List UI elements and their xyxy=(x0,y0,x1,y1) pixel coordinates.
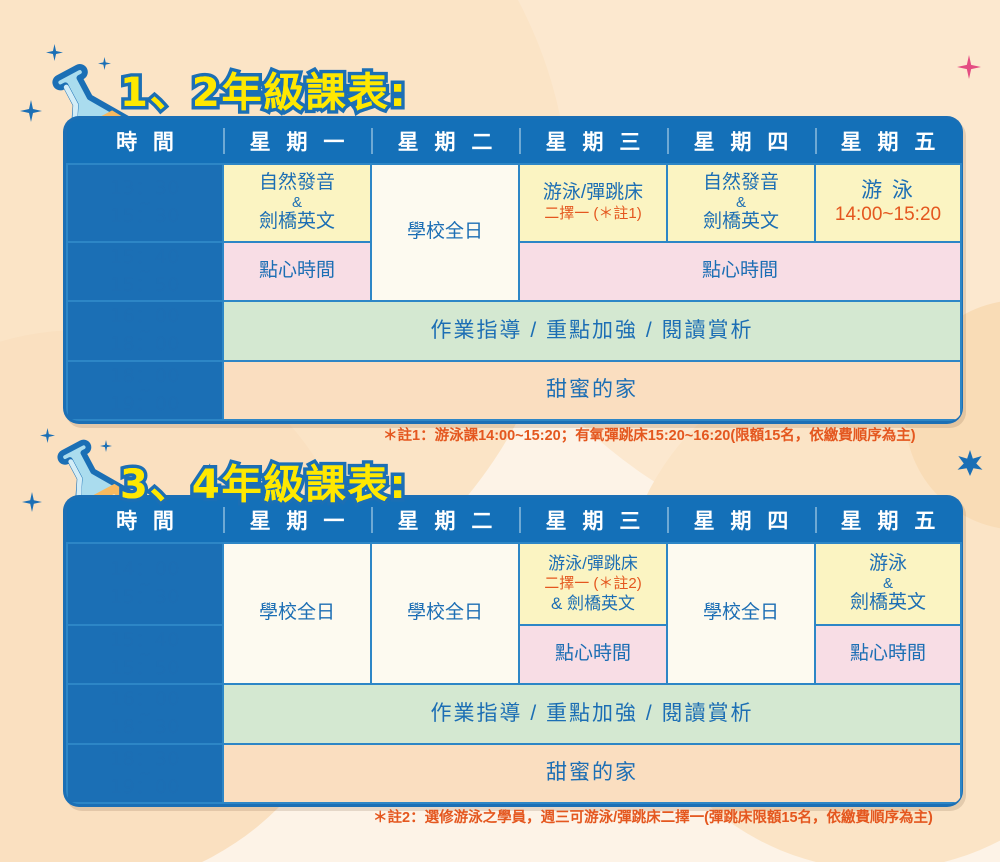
time-cell: 18：30 ~ 19：00 xyxy=(67,744,223,803)
table-row: 18：00 ~ 19：00 甜蜜的家 xyxy=(67,361,961,420)
cell-line: 學校全日 xyxy=(703,602,779,623)
cell-homework-guidance: 作業指導 / 重點加強 / 閱讀賞析 xyxy=(223,684,961,743)
star-icon xyxy=(957,450,983,476)
cell-home-sweet-home: 甜蜜的家 xyxy=(223,744,961,803)
sparkle-icon xyxy=(46,44,63,61)
cell-line: 學校全日 xyxy=(407,221,483,242)
schedule-table-grade-3-4: 時 間 星 期 一 星 期 二 星 期 三 星 期 四 星 期 五 14：00 … xyxy=(63,495,963,807)
section-title-grade-3-4: 3、4年級課表: xyxy=(120,452,408,510)
time-end: 19：00 xyxy=(70,777,220,798)
cell-wed-snack: 點心時間 xyxy=(519,625,667,684)
cell-line: 甜蜜的家 xyxy=(546,761,638,784)
cell-line: 自然發音 xyxy=(703,172,779,193)
time-end: 15：30 xyxy=(70,587,220,608)
table-row: 18：30 ~ 19：00 甜蜜的家 xyxy=(67,744,961,803)
column-header-friday: 星 期 五 xyxy=(815,119,961,164)
section-title-grade-1-2: 1、2年級課表: xyxy=(120,60,408,118)
cell-line: 劍橋英文 xyxy=(259,211,335,232)
column-header-monday: 星 期 一 xyxy=(223,119,371,164)
cell-mon-school-all-day: 學校全日 xyxy=(223,543,371,684)
cell-line: 點心時間 xyxy=(850,643,926,664)
cell-note-line: 二擇一 (＊註1) xyxy=(522,205,664,224)
cell-time-range: 14:00~15:20 xyxy=(818,204,958,226)
cell-line: 作業指導 / 重點加強 / 閱讀賞析 xyxy=(430,702,753,725)
cell-line: 游 泳 xyxy=(861,179,915,202)
cell-line: & 劍橋英文 xyxy=(522,593,664,615)
time-cell: 15：40 ~ 15：50 xyxy=(67,625,223,684)
cell-line: 游泳/彈跳床 xyxy=(543,182,643,203)
sparkle-icon xyxy=(957,55,981,79)
cell-wed-fri-snack: 點心時間 xyxy=(519,242,961,301)
time-cell: 16：00 ~ 18：30 xyxy=(67,684,223,743)
cell-mon-snack: 點心時間 xyxy=(223,242,371,301)
time-end: 15：50 xyxy=(70,658,220,679)
time-cell: 16：00 ~ 18：00 xyxy=(67,301,223,360)
footnote-1: ＊註1：游泳課14:00~15:20；有氧彈跳床15:20~16:20(限額15… xyxy=(383,424,916,445)
table-row: 16：00 ~ 18：30 作業指導 / 重點加強 / 閱讀賞析 xyxy=(67,684,961,743)
cell-line: 劍橋英文 xyxy=(850,592,926,613)
cell-line: 劍橋英文 xyxy=(703,211,779,232)
cell-wed-period1: 游泳/彈跳床 二擇一 (＊註2) & 劍橋英文 xyxy=(519,543,667,625)
column-header-tuesday: 星 期 二 xyxy=(371,119,519,164)
cell-line: 點心時間 xyxy=(259,260,335,281)
cell-fri-period1: 游 泳 14:00~15:20 xyxy=(815,164,961,242)
cell-wed-period1: 游泳/彈跳床 二擇一 (＊註1) xyxy=(519,164,667,242)
column-header-thursday: 星 期 四 xyxy=(667,498,815,543)
cell-line: 游泳/彈跳床 xyxy=(522,553,664,575)
time-cell: 13：30 ~ 15：30 xyxy=(67,164,223,242)
table-row: 13：30 ~ 15：30 自然發音 & 劍橋英文 學校全日 游泳/彈跳床 二擇… xyxy=(67,164,961,242)
footnote-2: ＊註2：選修游泳之學員，週三可游泳/彈跳床二擇一(彈跳床限額15名，依繳費順序為… xyxy=(373,806,933,827)
time-cell: 18：00 ~ 19：00 xyxy=(67,361,223,420)
schedule-table-grade-1-2: 時 間 星 期 一 星 期 二 星 期 三 星 期 四 星 期 五 13：30 … xyxy=(63,116,963,424)
cell-tue-school-all-day: 學校全日 xyxy=(371,543,519,684)
column-header-friday: 星 期 五 xyxy=(815,498,961,543)
cell-line: & xyxy=(818,576,958,593)
cell-home-sweet-home: 甜蜜的家 xyxy=(223,361,961,420)
time-end: 18：00 xyxy=(70,334,220,355)
time-end: 15：30 xyxy=(70,206,220,227)
cell-thu-period1: 自然發音 & 劍橋英文 xyxy=(667,164,815,242)
column-header-wednesday: 星 期 三 xyxy=(519,498,667,543)
table-row: 14：00 ~ 15：30 學校全日 學校全日 游泳/彈跳床 二擇一 (＊註2)… xyxy=(67,543,961,625)
cell-mon-period1: 自然發音 & 劍橋英文 xyxy=(223,164,371,242)
cell-homework-guidance: 作業指導 / 重點加強 / 閱讀賞析 xyxy=(223,301,961,360)
column-header-time: 時 間 xyxy=(67,119,223,164)
cell-line: & xyxy=(226,195,368,212)
cell-line: 學校全日 xyxy=(259,602,335,623)
cell-line: 游泳 xyxy=(869,553,907,574)
cell-line: 自然發音 xyxy=(259,172,335,193)
cell-line: 學校全日 xyxy=(407,602,483,623)
table-row: 16：00 ~ 18：00 作業指導 / 重點加強 / 閱讀賞析 xyxy=(67,301,961,360)
cell-line: 點心時間 xyxy=(702,260,778,281)
cell-line: 點心時間 xyxy=(555,643,631,664)
time-end: 15：50 xyxy=(70,275,220,296)
cell-tue-school-all-day: 學校全日 xyxy=(371,164,519,301)
table-header-row: 時 間 星 期 一 星 期 二 星 期 三 星 期 四 星 期 五 xyxy=(67,119,961,164)
cell-thu-school-all-day: 學校全日 xyxy=(667,543,815,684)
time-cell: 14：00 ~ 15：30 xyxy=(67,543,223,625)
cell-line: 作業指導 / 重點加強 / 閱讀賞析 xyxy=(430,319,753,342)
cell-note-line: 二擇一 (＊註2) xyxy=(522,575,664,594)
time-end: 18：30 xyxy=(70,717,220,738)
column-header-wednesday: 星 期 三 xyxy=(519,119,667,164)
cell-line: & xyxy=(670,195,812,212)
time-end: 19：00 xyxy=(70,394,220,415)
cell-line: 甜蜜的家 xyxy=(546,378,638,401)
cell-fri-snack: 點心時間 xyxy=(815,625,961,684)
time-cell: 15：40 ~ 15：50 xyxy=(67,242,223,301)
column-header-thursday: 星 期 四 xyxy=(667,119,815,164)
cell-fri-period1: 游泳 & 劍橋英文 xyxy=(815,543,961,625)
